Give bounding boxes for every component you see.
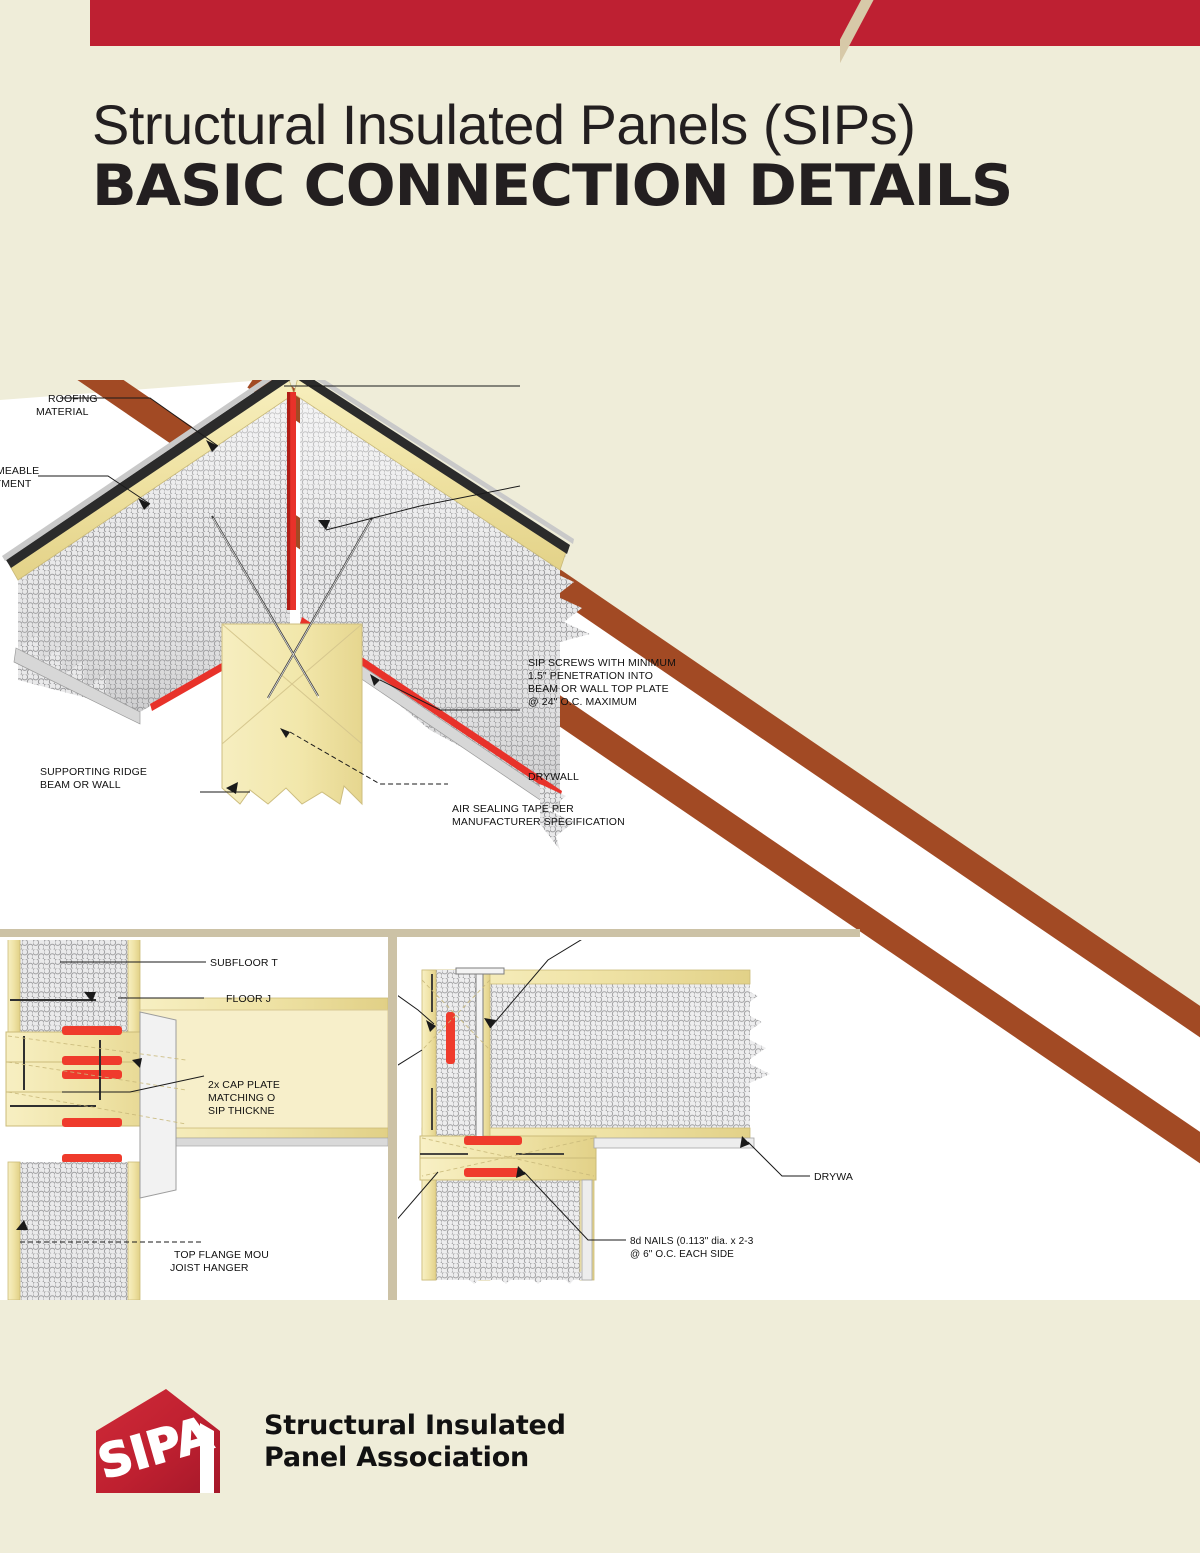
organization-name: Structural Insulated Panel Association	[264, 1410, 566, 1474]
cover-headline: Structural Insulated Panels (SIPs) BASIC…	[92, 96, 1102, 219]
label-drywall: DRYWALL	[528, 771, 579, 783]
diagram-wall-connection: 3/8" long) SIDE SEALANT FRAMING MMENDED …	[398, 940, 860, 1300]
lower-wall-sip	[422, 1180, 594, 1284]
label-ridge-beam-l1: SUPPORTING RIDGE	[40, 766, 147, 778]
top-red-bar	[90, 0, 1200, 46]
label-air-tape-l1: AIR SEALING TAPE PER	[452, 803, 574, 815]
label-roofing-material-l1: ROOFING	[48, 393, 98, 405]
joist-hanger	[140, 1012, 176, 1198]
cover-page: Structural Insulated Panels (SIPs) BASIC…	[0, 0, 1200, 1553]
label-air-tape-l2: MANUFACTURER SPECIFICATION	[452, 816, 625, 828]
footer-logo-block: SIPA Structural Insulated Panel Associat…	[88, 1382, 708, 1502]
org-name-line2: Panel Association	[264, 1442, 566, 1474]
label-roofing-material-l2: MATERIAL	[36, 406, 89, 418]
label-joist-hanger-l1: TOP FLANGE MOU	[174, 1249, 269, 1261]
label-nails-l2: @ 6" O.C. EACH SIDE	[630, 1249, 734, 1260]
drywall-face	[594, 1138, 754, 1148]
label-sip-screws-l3: BEAM OR WALL TOP PLATE	[528, 683, 669, 695]
connection-detail-diagrams: ROOFING MATERIAL VAPOR-PERMEABLE UNDERLA…	[0, 380, 860, 1300]
diagram-roof-ridge: ROOFING MATERIAL VAPOR-PERMEABLE UNDERLA…	[0, 380, 860, 933]
label-ridge-beam-l2: BEAM OR WALL	[40, 779, 121, 791]
diagram-floor-connection: SUBFLOOR T FLOOR J 2x CAP PLATE MATCHING…	[0, 940, 388, 1300]
label-underlayment-l2: UNDERLAYMENT	[0, 478, 32, 490]
label-underlayment-l1: VAPOR-PERMEABLE	[0, 465, 39, 477]
label-sip-screws-l4: @ 24" O.C. MAXIMUM	[528, 696, 637, 708]
label-cap-plate-l1: 2x CAP PLATE	[208, 1079, 280, 1091]
label-drywall-right: DRYWA	[814, 1171, 853, 1183]
page-title-line1: Structural Insulated Panels (SIPs)	[92, 96, 1102, 155]
sipa-logo-mark: SIPA	[88, 1387, 238, 1497]
label-joist-hanger-l2: JOIST HANGER	[170, 1262, 249, 1274]
org-name-line1: Structural Insulated	[264, 1410, 566, 1442]
diagram-divider-vertical	[388, 937, 397, 1300]
label-nails-l1: 8d NAILS (0.113" dia. x 2-3	[630, 1236, 754, 1247]
label-floor-joist: FLOOR J	[226, 993, 271, 1005]
label-cap-plate-l2: MATCHING O	[208, 1092, 275, 1104]
label-sip-screws-l2: 1.5" PENETRATION INTO	[528, 670, 653, 682]
page-title-line2: BASIC CONNECTION DETAILS	[92, 155, 1132, 219]
label-cap-plate-l3: SIP THICKNE	[208, 1105, 275, 1117]
label-sip-screws-l1: SIP SCREWS WITH MINIMUM	[528, 657, 676, 669]
label-subfloor: SUBFLOOR T	[210, 957, 278, 969]
diagram-divider-horizontal	[0, 929, 860, 937]
floor-joist	[140, 1010, 388, 1136]
